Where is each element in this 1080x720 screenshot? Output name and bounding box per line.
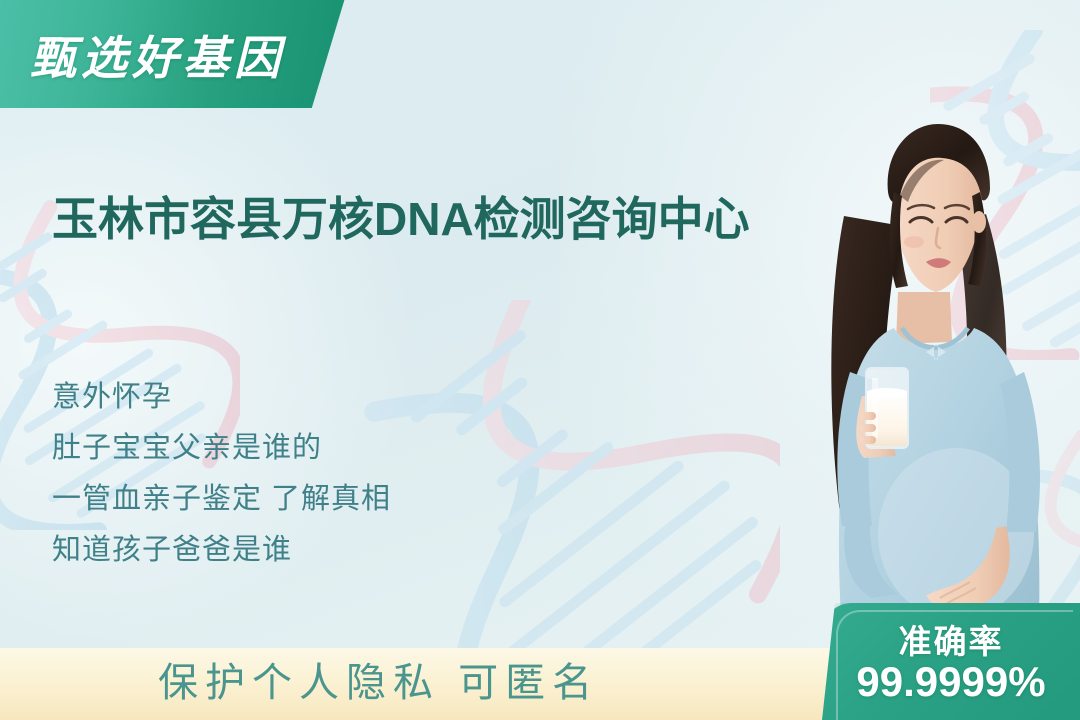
accuracy-badge: 准确率 99.9999% [822, 603, 1080, 720]
pregnant-woman-photo [810, 96, 1062, 686]
dna-helix-icon-middle [360, 300, 780, 700]
page-title: 玉林市容县万核DNA检测咨询中心 [52, 189, 822, 249]
selling-points-list: 意外怀孕 肚子宝宝父亲是谁的 一管血亲子鉴定 了解真相 知道孩子爸爸是谁 [52, 372, 391, 576]
privacy-slogan: 保护个人隐私 可匿名 [158, 650, 599, 708]
list-item: 知道孩子爸爸是谁 [52, 525, 391, 576]
list-item: 一管血亲子鉴定 了解真相 [52, 474, 391, 525]
list-item: 肚子宝宝父亲是谁的 [52, 423, 391, 474]
list-item: 意外怀孕 [52, 372, 391, 423]
promo-poster: 甄选好基因 玉林市容县万核DNA检测咨询中心 意外怀孕 肚子宝宝父亲是谁的 一管… [0, 0, 1080, 720]
accuracy-value: 99.9999% [822, 658, 1080, 706]
accuracy-label: 准确率 [822, 615, 1080, 663]
brand-banner: 甄选好基因 [0, 0, 348, 108]
brand-logo-text: 甄选好基因 [30, 22, 285, 88]
